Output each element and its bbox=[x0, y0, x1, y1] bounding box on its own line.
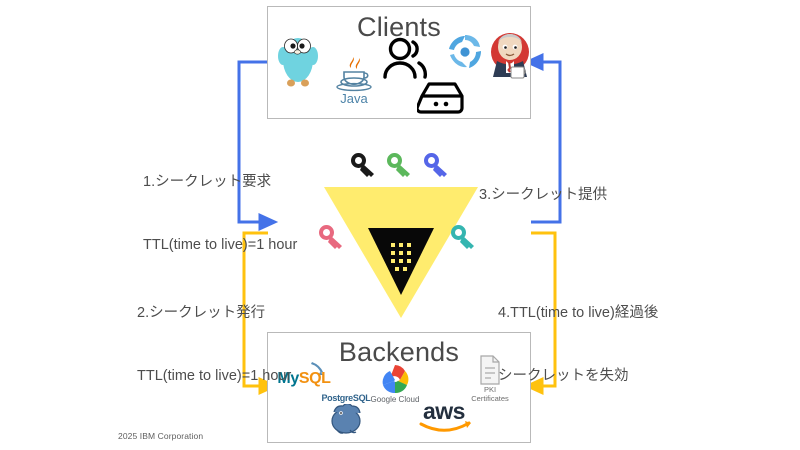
step-1-line-1: 1.シークレット要求 bbox=[143, 172, 297, 193]
step-3-line-1: 3.シークレット提供 bbox=[479, 185, 607, 206]
step-4-line-1: 4.TTL(time to live)経過後 bbox=[498, 303, 658, 324]
step-4-label: 4.TTL(time to live)経過後 シークレットを失効 bbox=[498, 261, 658, 429]
go-gopher-icon bbox=[277, 32, 319, 88]
java-icon-label: Java bbox=[333, 91, 375, 106]
step-4-line-2: シークレットを失効 bbox=[498, 366, 658, 387]
copyright-footer: 2025 IBM Corporation bbox=[118, 431, 203, 441]
key-icon-blue bbox=[421, 150, 451, 183]
step-2-line-1: 2.シークレット発行 bbox=[137, 303, 291, 324]
key-icon-teal bbox=[448, 222, 478, 255]
ansible-icon bbox=[443, 31, 487, 73]
jenkins-icon bbox=[489, 31, 531, 79]
step-1-line-2: TTL(time to live)=1 hour bbox=[143, 235, 297, 256]
java-icon: Java bbox=[333, 55, 375, 93]
key-icon-green bbox=[384, 150, 414, 183]
server-storage-icon bbox=[417, 80, 467, 116]
users-icon bbox=[381, 37, 429, 79]
step-2-label: 2.シークレット発行 TTL(time to live)=1 hour bbox=[137, 261, 291, 429]
key-icon-black bbox=[348, 150, 378, 183]
step-3-label: 3.シークレット提供 bbox=[479, 143, 607, 248]
slide-canvas: Clients Java bbox=[0, 0, 800, 450]
key-icon-red bbox=[316, 222, 346, 255]
step-2-line-2: TTL(time to live)=1 hour bbox=[137, 366, 291, 387]
